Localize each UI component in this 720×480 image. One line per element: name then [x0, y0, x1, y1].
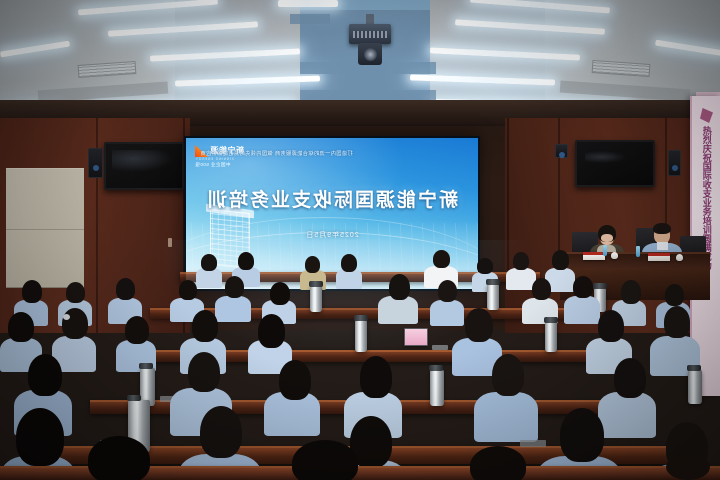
slide-subtitle: 打造国内一流的综合能源服务商 做国内领先的清洁能源供应商 — [200, 151, 406, 158]
desk-name-plate — [432, 345, 448, 350]
tablet-device[interactable] — [404, 328, 428, 346]
ceiling-lamp — [278, 0, 338, 7]
thermos-flask — [355, 320, 367, 352]
wall-speaker-left — [88, 148, 103, 178]
ceiling-recess-panel — [300, 62, 344, 74]
conference-room-photo: 新宁能源 XINNING ENERGY 中国企业 500强 打造国内一流的综合能… — [0, 0, 720, 480]
desk-name-plate — [520, 440, 546, 447]
ceiling-lamp — [175, 75, 320, 86]
slide-date: 2025年9月5日 — [186, 230, 478, 240]
wall-speaker-right — [555, 144, 568, 158]
door-handle[interactable] — [168, 238, 172, 247]
logo-english-name: XINNING ENERGY — [195, 158, 244, 161]
ceiling-lamp — [410, 74, 555, 85]
person-hair — [653, 223, 671, 234]
thermos-flask — [487, 284, 499, 310]
audience-area — [0, 250, 720, 480]
foreground-object — [666, 454, 710, 480]
thermos-flask — [545, 322, 557, 352]
projector-vent-grille — [353, 31, 387, 38]
wall-display-right[interactable] — [575, 140, 655, 187]
slide-title: 新宁能源国际收支业务培训 — [186, 185, 478, 212]
projector — [349, 24, 391, 44]
ceiling-recess-panel — [290, 14, 330, 24]
thermos-flask — [310, 286, 322, 312]
wall-display-left[interactable] — [104, 142, 184, 190]
projector-lens — [358, 43, 382, 65]
person-collar — [657, 242, 668, 250]
ceiling-recess-panel — [392, 62, 436, 74]
banner-seal-icon — [700, 108, 713, 123]
person-face — [601, 234, 613, 242]
wall-speaker-far-right — [668, 150, 681, 176]
logo-500-badge: 中国企业 500强 — [195, 163, 244, 168]
thermos-flask — [688, 370, 702, 404]
thermos-flask — [430, 370, 444, 406]
